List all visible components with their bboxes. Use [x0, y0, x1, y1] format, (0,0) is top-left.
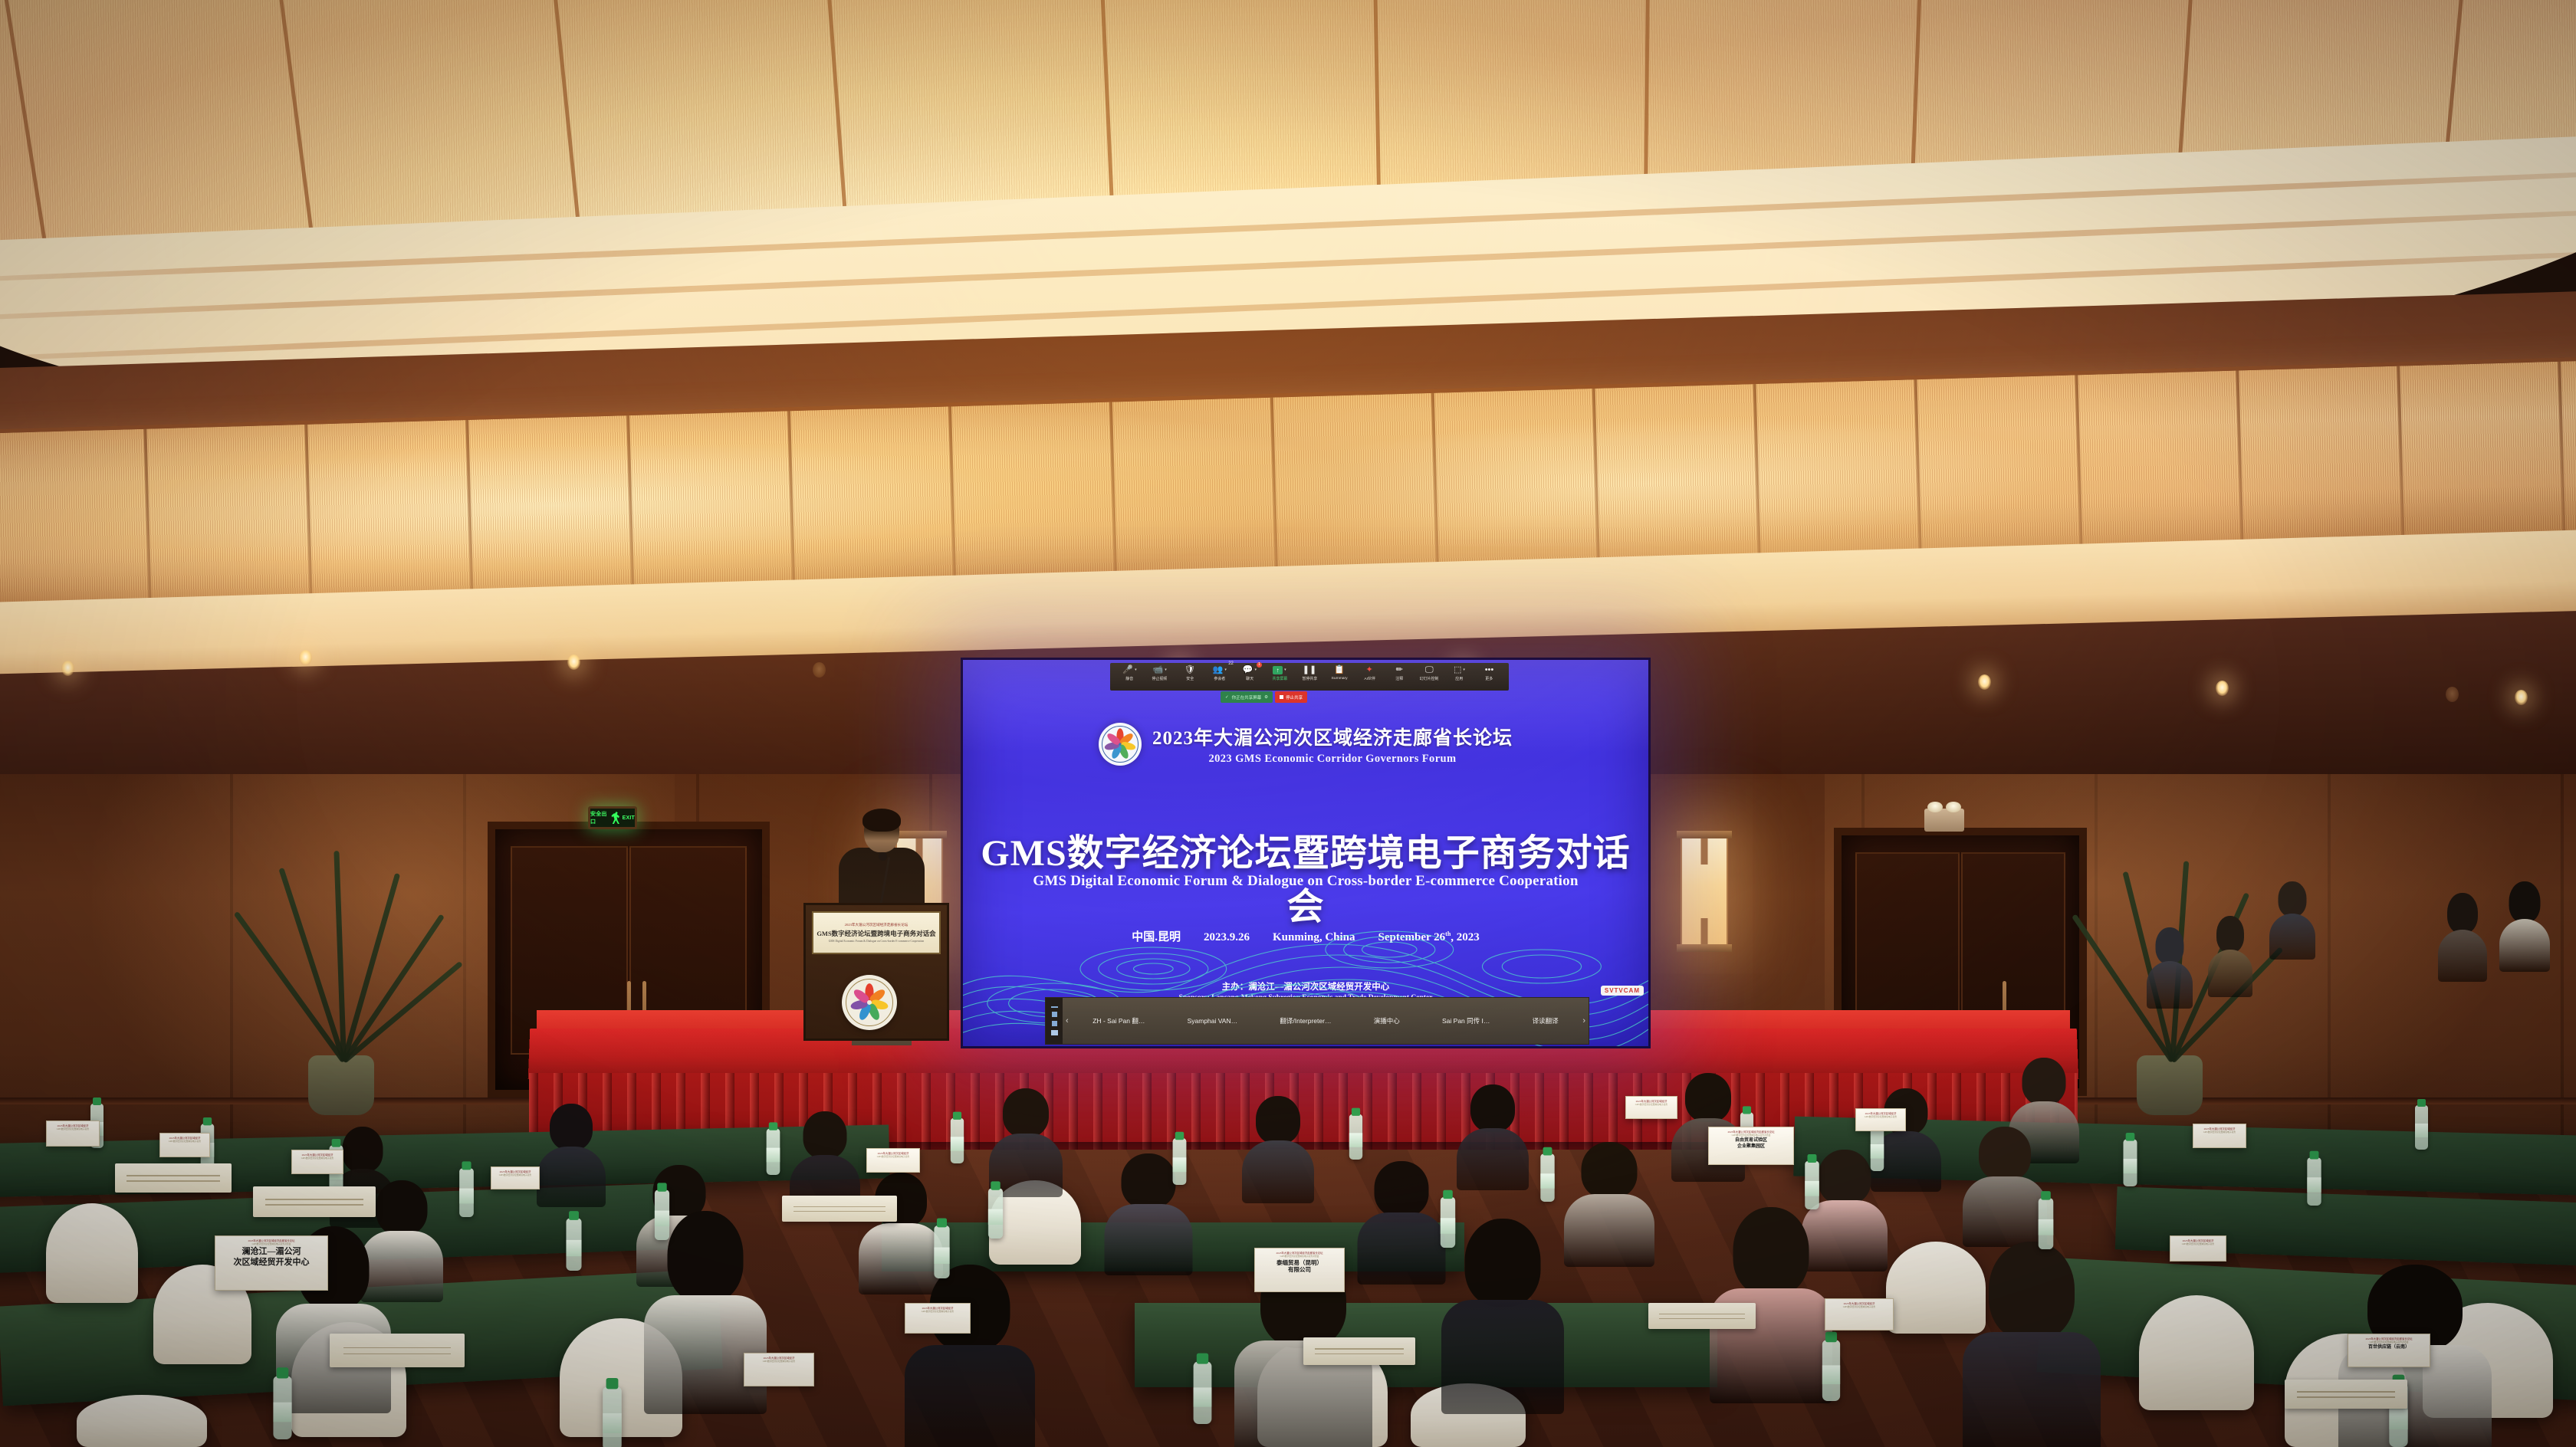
- chair-with-cover: [2139, 1295, 2254, 1410]
- name-card-subheader: GMS数字经济论坛暨跨境电子商务对话会: [1732, 1134, 1771, 1137]
- zoom-toolbar-label: 静音: [1126, 676, 1134, 681]
- table-name-card-center-right: 2023年大湄公河次区域经济走廊省长论坛GMS数字经济论坛暨跨境电子商务对话会泰…: [1254, 1248, 1345, 1292]
- person-shoulders: [2499, 919, 2550, 972]
- audience-member: [989, 1088, 1063, 1191]
- participant-name[interactable]: 翻译/Interpreter…: [1280, 1016, 1331, 1025]
- strip-view-controls[interactable]: [1046, 998, 1063, 1044]
- person-shoulders: [1963, 1176, 2047, 1247]
- ceiling-downlight: [2515, 690, 2528, 705]
- ai-companion-icon: ✦: [1366, 665, 1373, 675]
- audience-member: [2269, 881, 2315, 955]
- participant-name-list: ZH - Sai Pan 翻…Syamphai VAN…翻译/Interpret…: [1072, 1016, 1580, 1025]
- bottle-cap: [462, 1161, 471, 1170]
- name-card-subheader: GMS数字经济论坛暨跨境电子商务对话会: [2370, 1340, 2409, 1344]
- person-head: [2156, 927, 2184, 964]
- bottle-label: [2123, 1159, 2137, 1173]
- water-bottle: [2039, 1198, 2054, 1249]
- name-card-subheader: GMS数字经济论坛暨跨境电子商务: [301, 1157, 333, 1160]
- bottle-cap: [2041, 1191, 2051, 1200]
- table-name-card-front-left: 2023年大湄公河次区域经济走廊省长论坛GMS数字经济论坛暨跨境电子商务对话会澜…: [215, 1235, 328, 1291]
- zoom-toolbar-microphone[interactable]: 🎤▾静音: [1115, 665, 1145, 681]
- zoom-sharing-bar: ✓ 你正在共享屏幕 ⚙ 停止共享: [1221, 691, 1307, 703]
- check-icon: ✓: [1225, 695, 1229, 700]
- emergency-light-right: [1924, 809, 1964, 832]
- ceiling-downlight: [61, 661, 74, 676]
- water-bottle: [1871, 1125, 1884, 1171]
- share-screen-icon: ↑▾: [1273, 665, 1286, 675]
- led-presentation-screen: 🎤▾静音📹▾停止视频🛡安全👥22▾参会者💬1▾聊天↑▾共享屏幕❚❚暂停共享📋Su…: [961, 658, 1651, 1048]
- chevron-down-icon[interactable]: ▾: [1463, 668, 1465, 672]
- bottle-label: [934, 1248, 949, 1264]
- bottle-label: [1871, 1144, 1884, 1159]
- participant-name-tag: 🎤翻译/Interpreter Sherry: [1299, 1048, 1362, 1048]
- zoom-toolbar-label: 安全: [1186, 676, 1194, 681]
- zoom-toolbar-share-screen[interactable]: ↑▾共享屏幕: [1264, 665, 1294, 681]
- water-bottle: [2415, 1105, 2428, 1150]
- bottle-cap: [332, 1139, 341, 1147]
- bottle-label: [988, 1209, 1003, 1225]
- bottle-label: [273, 1403, 291, 1422]
- name-card-subheader: GMS数字经济论坛暨跨境电子商务: [877, 1155, 909, 1158]
- water-bottle: [2123, 1140, 2137, 1186]
- video-camera-icon: 📹▾: [1153, 665, 1167, 675]
- person-shoulders: [1441, 1300, 1564, 1414]
- participant-name[interactable]: Syamphai VAN…: [1188, 1017, 1238, 1025]
- table-name-card: 2023年大湄公河次区域经济GMS数字经济论坛暨跨境电子商务: [1825, 1298, 1894, 1331]
- pencil-annotate-icon: ✏: [1396, 665, 1403, 675]
- conference-hall-photo: 安全出口 EXIT: [0, 0, 2576, 1447]
- bottle-label: [1441, 1218, 1455, 1234]
- slide-control-icon: 🖵: [1425, 665, 1434, 675]
- zoom-toolbar-label: 参会者: [1214, 676, 1225, 681]
- bottle-label: [655, 1211, 669, 1226]
- ceiling-downlight: [813, 662, 826, 678]
- person-head: [2022, 1058, 2066, 1105]
- table-name-card: 2023年大湄公河次区域经济GMS数字经济论坛暨跨境电子商务: [291, 1150, 343, 1174]
- program-booklet: [115, 1163, 232, 1193]
- table-name-card: 2023年大湄公河次区域经济GMS数字经济论坛暨跨境电子商务: [491, 1166, 540, 1189]
- audience-member: [1242, 1096, 1314, 1197]
- person-head: [2216, 916, 2244, 953]
- zoom-meeting-toolbar[interactable]: 🎤▾静音📹▾停止视频🛡安全👥22▾参会者💬1▾聊天↑▾共享屏幕❚❚暂停共享📋Su…: [1110, 663, 1509, 691]
- bottle-label: [1349, 1133, 1362, 1147]
- person-shoulders: [537, 1147, 606, 1207]
- plant-pot: [308, 1055, 374, 1115]
- person-head: [1819, 1150, 1871, 1205]
- table-name-card-far-right: 2023年大湄公河次区域经济走廊省长论坛GMS数字经济论坛暨跨境电子商务对话会百…: [2348, 1334, 2430, 1367]
- event-header-en: 2023 GMS Economic Corridor Governors For…: [1152, 753, 1513, 766]
- minimize-icon: [1051, 1006, 1058, 1008]
- zoom-toolbar-pause[interactable]: ❚❚暂停共享: [1294, 665, 1324, 681]
- zoom-toolbar-label: 暂停共享: [1302, 676, 1317, 681]
- notification-badge: 1: [1257, 662, 1262, 668]
- water-bottle: [988, 1188, 1003, 1239]
- person-shoulders: [1242, 1140, 1314, 1203]
- zoom-toolbar-pencil-annotate[interactable]: ✏注释: [1385, 665, 1414, 681]
- stop-share-label: 停止共享: [1286, 694, 1303, 701]
- person-head: [668, 1211, 744, 1303]
- person-head: [1733, 1207, 1809, 1296]
- sharing-status-chip: ✓ 你正在共享屏幕 ⚙: [1221, 691, 1273, 703]
- zoom-toolbar-label: 共享屏幕: [1272, 676, 1287, 681]
- audience-member: [2438, 893, 2487, 977]
- bottle-cap: [1825, 1332, 1837, 1343]
- person-head: [1256, 1096, 1300, 1144]
- wall-sconce-right: [1681, 834, 1728, 949]
- chair-with-cover: [77, 1395, 207, 1447]
- zoom-toolbar-ai-companion[interactable]: ✦AI伙伴: [1355, 665, 1385, 681]
- person-head: [2509, 881, 2541, 923]
- zoom-toolbar-label: 注释: [1395, 676, 1403, 681]
- participant-name-text: Sai Pan 同传 Interpreter: [1423, 1048, 1480, 1048]
- grid-view-icon: [1051, 1030, 1058, 1035]
- zoom-toolbar-label: 应用: [1455, 676, 1463, 681]
- name-card-subheader: GMS数字经济论坛暨跨境电子商务: [922, 1310, 954, 1313]
- chevron-down-icon[interactable]: ▾: [1254, 668, 1257, 672]
- event-header-cn: 2023年大湄公河次区域经济走廊省长论坛: [1152, 723, 1513, 750]
- bottle-label: [1540, 1173, 1554, 1188]
- table-name-card: 2023年大湄公河次区域经济GMS数字经济论坛暨跨境电子商务: [2193, 1124, 2246, 1148]
- bottle-label: [2389, 1409, 2407, 1429]
- bottle-cap: [1743, 1106, 1751, 1114]
- person-head: [2447, 893, 2478, 933]
- water-bottle: [273, 1376, 291, 1439]
- participant-name-tag: 🎤译读翻译: [1533, 1048, 1563, 1048]
- speaker-hair: [863, 809, 901, 832]
- bottle-cap: [991, 1181, 1000, 1189]
- bottle-cap: [657, 1183, 666, 1191]
- person-shoulders: [905, 1345, 1035, 1447]
- name-card-subheader: GMS数字经济论坛暨跨境电子商务: [499, 1173, 531, 1176]
- bottle-label: [1194, 1387, 1212, 1406]
- bottle-cap: [769, 1122, 777, 1130]
- sharing-status-label: 你正在共享屏幕: [1232, 694, 1262, 701]
- name-card-text: 自由贸易试验区 企业聚集园区: [1735, 1138, 1767, 1150]
- name-card-subheader: GMS数字经济论坛暨跨境电子商务: [1843, 1305, 1875, 1308]
- water-bottle: [566, 1219, 581, 1271]
- zoom-toolbar-more-dots[interactable]: •••更多: [1474, 665, 1504, 681]
- bottle-cap: [606, 1378, 619, 1389]
- participant-name-text: 译读翻译: [1541, 1048, 1562, 1048]
- audience-member: [2208, 916, 2252, 993]
- zoom-toolbar-label: 聊天: [1246, 676, 1253, 681]
- stop-square-icon: [1280, 695, 1283, 699]
- participant-name-tag: 🎤ZH - Sai Pan 徐明珍: [1072, 1048, 1129, 1048]
- audience-member: [905, 1265, 1035, 1447]
- program-booklet: [1648, 1303, 1756, 1329]
- audience-member: [2499, 881, 2550, 967]
- shield-security-icon: 🛡: [1184, 665, 1195, 675]
- name-card-text: 泰缅贸易（昆明） 有限公司: [1276, 1259, 1322, 1274]
- zoom-toolbar-shield-security[interactable]: 🛡安全: [1175, 665, 1204, 681]
- person-shoulders: [1104, 1204, 1192, 1275]
- program-booklet: [1303, 1337, 1415, 1365]
- bottle-label: [951, 1137, 964, 1150]
- participant-name-text: ZH - Sai Pan 徐明珍: [1079, 1048, 1128, 1048]
- water-bottle: [1441, 1197, 1455, 1248]
- chat-bubble-icon: 💬1▾: [1243, 665, 1257, 675]
- table-name-card: 2023年大湄公河次区域经济GMS数字经济论坛暨跨境电子商务: [46, 1121, 100, 1147]
- microphone-icon: [879, 852, 887, 861]
- water-bottle: [1822, 1340, 1840, 1401]
- table-name-card: 2023年大湄公河次区域经济GMS数字经济论坛暨跨境电子商务: [905, 1303, 971, 1334]
- potted-plant-left: [253, 839, 429, 1115]
- person-head: [1121, 1153, 1175, 1209]
- person-shoulders: [1963, 1332, 2101, 1447]
- conference-table-front-center: [1135, 1303, 1717, 1387]
- podium-gms-emblem: [842, 975, 897, 1030]
- chevron-down-icon[interactable]: ▾: [1135, 668, 1137, 672]
- bottle-label: [2039, 1219, 2054, 1235]
- bottle-label: [1822, 1365, 1840, 1384]
- microphone-icon: 🎤▾: [1122, 665, 1136, 675]
- bottle-cap: [937, 1218, 947, 1227]
- exit-sign-label-en: EXIT: [623, 815, 635, 821]
- bottle-cap: [1352, 1108, 1360, 1116]
- table-name-card: 2023年大湄公河次区域经济GMS数字经济论坛暨跨境电子商务: [1855, 1108, 1906, 1131]
- ceiling-downlight: [567, 655, 580, 670]
- water-bottle: [2307, 1157, 2321, 1206]
- slide-event-header: 2023年大湄公河次区域经济走廊省长论坛 2023 GMS Economic C…: [963, 723, 1648, 766]
- water-bottle: [655, 1189, 669, 1240]
- ceiling-downlight: [299, 650, 312, 665]
- table-name-card: 2023年大湄公河次区域经济GMS数字经济论坛暨跨境电子商务: [2170, 1235, 2226, 1262]
- person-head: [2279, 881, 2307, 917]
- audience-member: [1564, 1142, 1654, 1260]
- zoom-toolbar-apps[interactable]: ⬚▾应用: [1444, 665, 1474, 681]
- participants-icon: 👥22▾: [1213, 665, 1227, 675]
- chevron-down-icon[interactable]: ▾: [1165, 668, 1167, 672]
- participant-name[interactable]: Sai Pan 同传 I…: [1442, 1016, 1490, 1025]
- table-name-card: 2023年大湄公河次区域经济GMS数字经济论坛暨跨境电子商务: [744, 1353, 814, 1386]
- participant-name[interactable]: ZH - Sai Pan 翻…: [1092, 1016, 1145, 1025]
- plant-pot: [2137, 1055, 2203, 1115]
- apps-icon: ⬚▾: [1454, 665, 1465, 675]
- ceiling-downlight: [1978, 674, 1991, 690]
- program-booklet: [330, 1334, 465, 1367]
- person-head: [343, 1127, 383, 1173]
- gallery-view-icon: [1052, 1021, 1057, 1026]
- bottle-cap: [93, 1098, 101, 1105]
- bottle-cap: [1443, 1190, 1453, 1199]
- zoom-toolbar-label: 更多: [1486, 676, 1493, 681]
- water-bottle: [603, 1386, 621, 1447]
- name-card-text: 百世供应链（云南）: [2368, 1345, 2410, 1351]
- name-card-subheader: GMS数字经济论坛暨跨境电子商务: [1865, 1115, 1897, 1118]
- program-booklet: [2285, 1380, 2407, 1409]
- podium-title-en: GMS Digital Economic Forum & Dialogue on…: [829, 940, 924, 943]
- name-card-subheader: GMS数字经济论坛暨跨境电子商务: [2182, 1242, 2214, 1245]
- bottle-cap: [1808, 1154, 1817, 1163]
- bottle-cap: [569, 1211, 579, 1220]
- bottle-cap: [2310, 1151, 2319, 1160]
- stop-share-button[interactable]: 停止共享: [1275, 691, 1307, 703]
- person-shoulders: [2147, 961, 2193, 1009]
- bottle-label: [2307, 1177, 2321, 1192]
- water-bottle: [459, 1168, 474, 1217]
- water-bottle: [951, 1118, 964, 1163]
- bottle-label: [2415, 1124, 2428, 1137]
- name-card-subheader: GMS数字经济论坛暨跨境电子商务: [169, 1140, 201, 1143]
- person-shoulders: [2438, 930, 2487, 982]
- more-dots-icon: •••: [1485, 665, 1494, 675]
- single-view-icon: [1052, 1012, 1057, 1017]
- name-card-subheader: GMS数字经济论坛暨跨境电子商务对话会: [252, 1242, 291, 1245]
- program-booklet: [782, 1196, 897, 1222]
- summary-icon: 📋: [1334, 665, 1345, 675]
- zoom-toolbar-participants[interactable]: 👥22▾参会者: [1204, 665, 1234, 681]
- bottle-cap: [1543, 1147, 1552, 1156]
- name-card-subheader: GMS数字经济论坛暨跨境电子商务: [57, 1127, 89, 1130]
- ceiling-downlight: [2446, 687, 2459, 702]
- bottle-cap: [953, 1112, 961, 1120]
- name-card-subheader: GMS数字经济论坛暨跨境电子商务对话会: [1280, 1255, 1319, 1258]
- name-card-subheader: GMS数字经济论坛暨跨境电子商务: [1635, 1103, 1667, 1106]
- table-name-card: 2023年大湄公河次区域经济GMS数字经济论坛暨跨境电子商务: [159, 1133, 210, 1157]
- bottle-label: [767, 1148, 780, 1163]
- person-head: [550, 1104, 593, 1150]
- exit-sign-left: 安全出口 EXIT: [588, 806, 637, 829]
- water-bottle: [1173, 1138, 1187, 1185]
- bottle-label: [459, 1189, 474, 1204]
- program-booklet: [253, 1186, 376, 1217]
- ceiling-downlight: [2216, 681, 2229, 696]
- audience-member: [1457, 1084, 1529, 1184]
- zoom-toolbar-label: AI伙伴: [1364, 676, 1375, 681]
- chevron-down-icon[interactable]: ▾: [1224, 668, 1227, 672]
- podium-header-cn: 2023年大湄公河次区域经济走廊省长论坛: [845, 923, 909, 927]
- participant-name-text: 翻译/Interpreter Sherry: [1307, 1048, 1362, 1048]
- bottle-cap: [203, 1117, 212, 1125]
- slide-title-en: GMS Digital Economic Forum & Dialogue on…: [963, 873, 1648, 890]
- exit-sign-label-cn: 安全出口: [590, 810, 609, 825]
- zoom-toolbar-chat-bubble[interactable]: 💬1▾聊天: [1234, 665, 1264, 681]
- zoom-participant-strip[interactable]: ‹ ZH - Sai Pan 翻…Syamphai VAN…翻译/Interpr…: [1045, 997, 1589, 1045]
- person-head: [1685, 1073, 1731, 1122]
- person-shoulders: [2269, 914, 2315, 960]
- zoom-toolbar-summary[interactable]: 📋Summary: [1325, 665, 1355, 681]
- bottle-label: [1173, 1157, 1187, 1172]
- strip-prev-arrow[interactable]: ‹: [1063, 1016, 1072, 1025]
- audience-member: [2147, 927, 2193, 1004]
- name-card-subheader: GMS数字经济论坛暨跨境电子商务: [2203, 1130, 2236, 1134]
- audience-member: [1963, 1127, 2047, 1240]
- water-bottle: [1349, 1114, 1362, 1160]
- gms-forum-logo: [1099, 723, 1142, 766]
- bottle-label: [1805, 1181, 1819, 1196]
- water-bottle: [1805, 1161, 1819, 1209]
- water-bottle: [1540, 1153, 1554, 1202]
- bottle-cap: [2417, 1099, 2426, 1107]
- water-bottle: [767, 1129, 780, 1175]
- zoom-toolbar-label: 幻灯片控制: [1420, 676, 1439, 681]
- zoom-toolbar-label: Summary: [1332, 676, 1348, 681]
- table-name-card-mid-right: 2023年大湄公河次区域经济走廊省长论坛GMS数字经济论坛暨跨境电子商务对话会自…: [1708, 1127, 1794, 1165]
- bottle-label: [603, 1413, 621, 1433]
- zoom-toolbar-video-camera[interactable]: 📹▾停止视频: [1145, 665, 1175, 681]
- audience-member: [1441, 1219, 1564, 1403]
- person-head: [1470, 1084, 1515, 1132]
- running-man-icon: [611, 812, 620, 824]
- person-head: [1989, 1242, 2075, 1340]
- bottle-cap: [1175, 1132, 1184, 1140]
- participant-name[interactable]: 演播中心: [1374, 1016, 1400, 1025]
- pause-icon: ❚❚: [1303, 665, 1316, 675]
- chair-with-cover: [46, 1203, 138, 1303]
- chevron-down-icon[interactable]: ▾: [1284, 668, 1286, 672]
- audience-member: [537, 1104, 606, 1202]
- person-head: [1374, 1161, 1428, 1217]
- participant-count: 22: [1228, 661, 1234, 666]
- gear-icon[interactable]: ⚙: [1264, 695, 1268, 700]
- broadcast-watermark: SVTVCAM: [1601, 986, 1644, 996]
- strip-next-arrow[interactable]: ›: [1579, 1016, 1589, 1025]
- water-bottle: [1194, 1362, 1212, 1424]
- zoom-toolbar-label: 停止视频: [1152, 676, 1168, 681]
- person-shoulders: [1457, 1128, 1529, 1190]
- person-head: [1582, 1142, 1638, 1199]
- bottle-label: [566, 1240, 581, 1256]
- participant-name-tag: 🎤Sai Pan 同传 Interpreter: [1414, 1048, 1480, 1048]
- person-shoulders: [1564, 1194, 1654, 1267]
- person-shoulders: [2208, 950, 2252, 997]
- water-bottle: [934, 1226, 949, 1278]
- podium-title-cn: GMS数字经济论坛暨跨境电子商务对话会: [816, 929, 935, 938]
- audience-member: [1710, 1207, 1832, 1393]
- participant-name[interactable]: 译读翻译: [1533, 1016, 1559, 1025]
- zoom-toolbar-slide-control[interactable]: 🖵幻灯片控制: [1414, 665, 1444, 681]
- name-card-subheader: GMS数字经济论坛暨跨境电子商务: [763, 1360, 795, 1363]
- bottle-cap: [277, 1367, 289, 1378]
- table-name-card: 2023年大湄公河次区域经济GMS数字经济论坛暨跨境电子商务: [1625, 1096, 1677, 1119]
- audience-member: [1963, 1242, 2101, 1447]
- podium-signboard: 2023年大湄公河次区域经济走廊省长论坛 GMS数字经济论坛暨跨境电子商务对话会…: [812, 911, 941, 954]
- person-head: [1979, 1127, 2031, 1181]
- name-card-text: 澜沧江—湄公河 次区域经贸开发中心: [234, 1247, 310, 1268]
- person-head: [1465, 1219, 1541, 1307]
- bottle-cap: [1197, 1353, 1208, 1364]
- participant-name-tags: 🎤ZH - Sai Pan 徐明珍🎤Syamphai VANNACHAI🎤翻译/…: [1045, 1045, 1589, 1048]
- table-name-card: 2023年大湄公河次区域经济GMS数字经济论坛暨跨境电子商务: [866, 1148, 920, 1173]
- person-head: [803, 1111, 847, 1159]
- person-head: [1003, 1088, 1049, 1137]
- bottle-cap: [2126, 1133, 2135, 1141]
